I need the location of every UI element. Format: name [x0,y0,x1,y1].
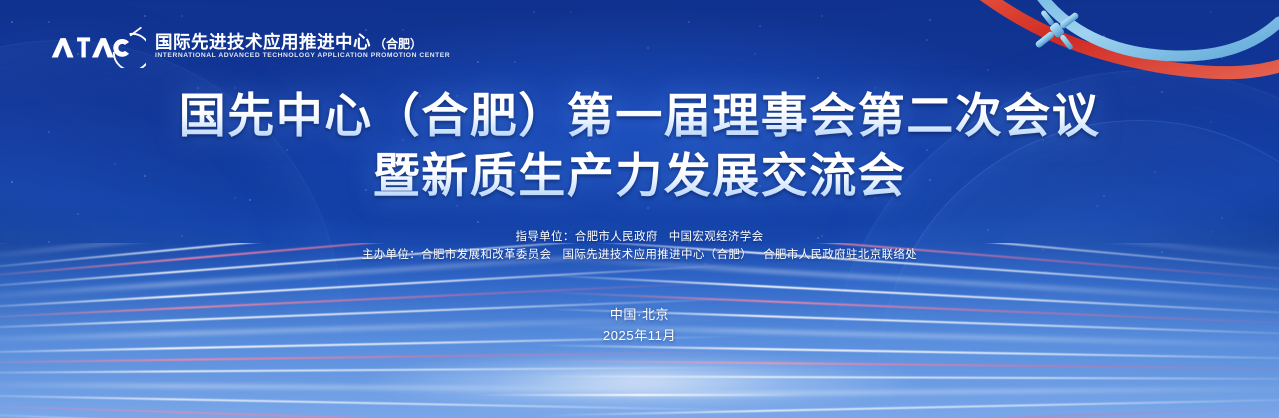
organizer-block: 指导单位：合肥市人民政府中国宏观经济学会 主办单位：合肥市发展和改革委员会国际先… [0,228,1279,264]
title-line-2: 暨新质生产力发展交流会 [0,146,1279,206]
organizer-entry: 中国宏观经济学会 [669,231,764,243]
organizer-label-guidance: 指导单位： [515,231,574,243]
conference-banner: 国际先进技术应用推进中心 （合肥） INTERNATIONAL ADVANCED… [0,0,1279,418]
event-location: 中国·北京 [0,304,1279,325]
logo-cn-main: 国际先进技术应用推进中心 [155,34,371,52]
organizer-entry: 合肥市发展和改革委员会 [421,249,551,261]
organizer-line-host: 主办单位：合肥市发展和改革委员会国际先进技术应用推进中心（合肥）合肥市人民政府驻… [0,246,1279,264]
aitac-logo-icon [50,26,146,68]
title-line-1: 国先中心（合肥）第一届理事会第二次会议 [0,86,1279,146]
logo-cn-suffix: （合肥） [374,38,422,50]
organizer-entry: 国际先进技术应用推进中心（合肥） [562,249,752,261]
event-date: 2025年11月 [0,325,1279,346]
organizer-label-host: 主办单位： [362,249,421,261]
event-title: 国先中心（合肥）第一届理事会第二次会议 暨新质生产力发展交流会 [0,86,1279,205]
event-meta: 中国·北京 2025年11月 [0,304,1279,346]
logo-english-name: INTERNATIONAL ADVANCED TECHNOLOGY APPLIC… [155,53,450,60]
organizer-entry: 合肥市人民政府驻北京联络处 [763,249,917,261]
rays-convergence-glow [360,352,920,412]
organization-logo: 国际先进技术应用推进中心 （合肥） INTERNATIONAL ADVANCED… [50,26,444,68]
red-ribbon-arc [979,0,1279,73]
logo-chinese-name: 国际先进技术应用推进中心 （合肥） [155,34,444,52]
organizer-line-guidance: 指导单位：合肥市人民政府中国宏观经济学会 [0,228,1279,246]
organizer-entry: 合肥市人民政府 [575,231,658,243]
rays-horizon-line [475,394,805,396]
